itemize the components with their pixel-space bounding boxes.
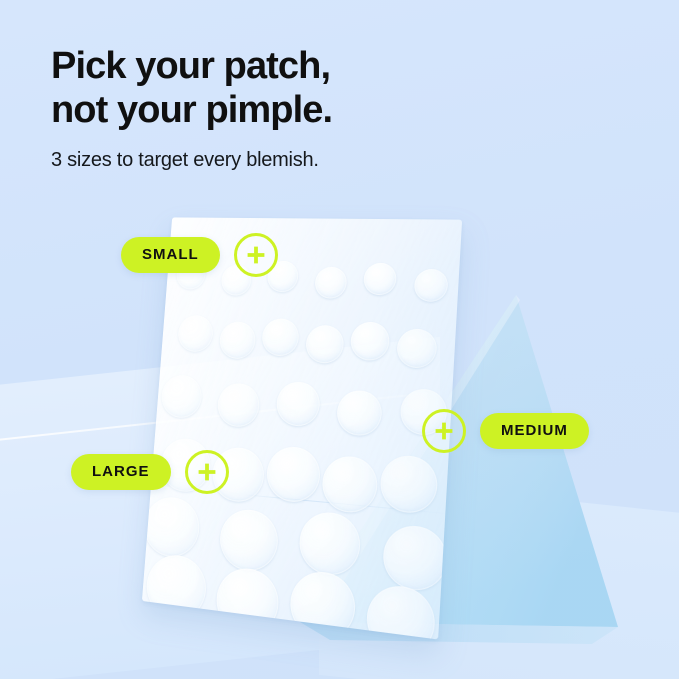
size-badge-small[interactable]: SMALL — [121, 233, 278, 277]
size-label-large: LARGE — [71, 454, 171, 490]
product-graphic: SMALL LARGE MEDIUM Pick your patch, not … — [0, 0, 679, 679]
size-label-medium: MEDIUM — [480, 413, 589, 449]
page-subtitle: 3 sizes to target every blemish. — [51, 147, 571, 173]
page-title: Pick your patch, not your pimple. — [51, 44, 571, 132]
copy-block: Pick your patch, not your pimple. 3 size… — [51, 44, 571, 173]
size-label-small: SMALL — [121, 237, 220, 273]
headline-line-2: not your pimple. — [51, 88, 571, 132]
size-badge-medium[interactable]: MEDIUM — [422, 409, 589, 453]
plus-circle-icon — [185, 450, 229, 494]
headline-line-1: Pick your patch, — [51, 44, 571, 88]
size-badge-large[interactable]: LARGE — [71, 450, 229, 494]
plus-circle-icon — [422, 409, 466, 453]
plus-circle-icon — [234, 233, 278, 277]
